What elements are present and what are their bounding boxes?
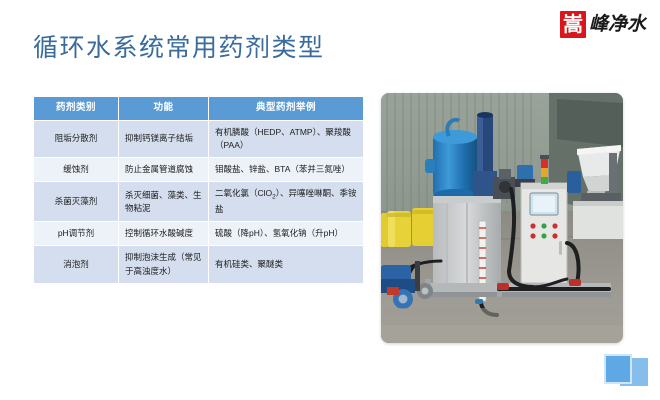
cell-examples: 钼酸盐、锌盐、BTA（苯并三氮唑） xyxy=(209,158,364,182)
equipment-photo-illustration xyxy=(381,93,623,343)
decorative-squares xyxy=(602,354,648,392)
cell-function: 防止金属管道腐蚀 xyxy=(119,158,209,182)
table-row: 杀菌灭藻剂 杀灭细菌、藻类、生物粘泥 二氧化氯（ClO2）、异噻唑啉酮、季铵盐 xyxy=(34,182,364,222)
table-header-row: 药剂类别 功能 典型药剂举例 xyxy=(34,97,364,121)
cell-examples: 硫酸（降pH）、氢氧化钠（升pH） xyxy=(209,222,364,246)
logo-seal-icon: 嵩 xyxy=(560,11,586,38)
cell-examples-text: 有机膦酸（HEDP、ATMP）、聚羧酸（PAA） xyxy=(215,127,351,150)
chemical-types-table: 药剂类别 功能 典型药剂举例 阻垢分散剂 抑制钙镁离子结垢 有机膦酸（HEDP、… xyxy=(33,96,363,284)
company-logo: 嵩 峰净水 xyxy=(560,9,646,39)
page-title: 循环水系统常用药剂类型 xyxy=(33,28,325,64)
cell-category: 消泡剂 xyxy=(34,246,119,283)
cell-category: pH调节剂 xyxy=(34,222,119,246)
cell-category: 缓蚀剂 xyxy=(34,158,119,182)
cell-examples-text: 钼酸盐、锌盐、BTA（苯并三氮唑） xyxy=(215,164,350,174)
slide-canvas: 嵩 峰净水 循环水系统常用药剂类型 药剂类别 功能 典型药剂举例 阻垢分散剂 抑… xyxy=(0,0,660,400)
column-header-examples: 典型药剂举例 xyxy=(209,97,364,121)
cell-function: 抑制泡沫生成（常见于高浊度水） xyxy=(119,246,209,283)
table-row: 阻垢分散剂 抑制钙镁离子结垢 有机膦酸（HEDP、ATMP）、聚羧酸（PAA） xyxy=(34,120,364,157)
logo-wordmark: 峰净水 xyxy=(589,11,646,38)
cell-examples: 有机硅类、聚醚类 xyxy=(209,246,364,283)
decorative-square-front xyxy=(604,354,632,384)
table-row: 消泡剂 抑制泡沫生成（常见于高浊度水） 有机硅类、聚醚类 xyxy=(34,246,364,283)
cell-function: 抑制钙镁离子结垢 xyxy=(119,120,209,157)
cell-examples: 有机膦酸（HEDP、ATMP）、聚羧酸（PAA） xyxy=(209,120,364,157)
cell-examples: 二氧化氯（ClO2）、异噻唑啉酮、季铵盐 xyxy=(209,182,364,222)
cell-category: 杀菌灭藻剂 xyxy=(34,182,119,222)
cell-examples-text: 有机硅类、聚醚类 xyxy=(215,259,283,269)
cell-function: 控制循环水酸碱度 xyxy=(119,222,209,246)
column-header-function: 功能 xyxy=(119,97,209,121)
table-row: pH调节剂 控制循环水酸碱度 硫酸（降pH）、氢氧化钠（升pH） xyxy=(34,222,364,246)
cell-examples-text: 硫酸（降pH）、氢氧化钠（升pH） xyxy=(215,228,343,238)
cell-function: 杀灭细菌、藻类、生物粘泥 xyxy=(119,182,209,222)
column-header-category: 药剂类别 xyxy=(34,97,119,121)
cell-category: 阻垢分散剂 xyxy=(34,120,119,157)
table-row: 缓蚀剂 防止金属管道腐蚀 钼酸盐、锌盐、BTA（苯并三氮唑） xyxy=(34,158,364,182)
equipment-photo xyxy=(381,93,623,343)
cell-examples-text: 二氧化氯（ClO xyxy=(215,188,272,198)
